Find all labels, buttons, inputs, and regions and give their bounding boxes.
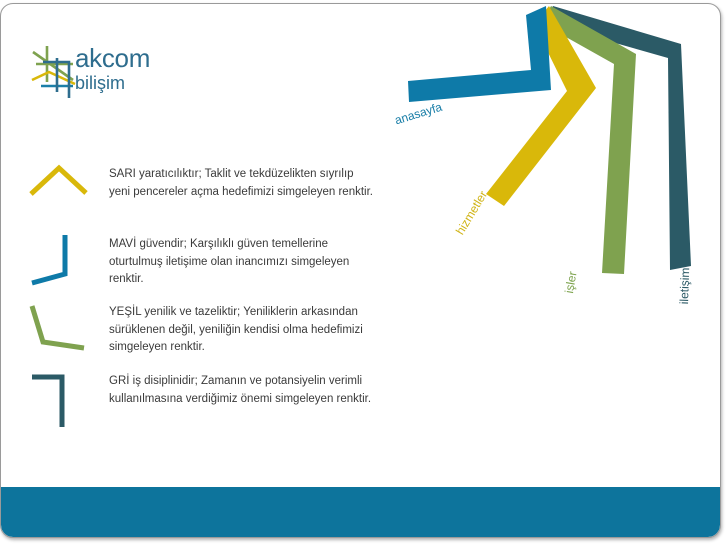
legend-text-yellow: SARI yaratıcılıktır; Taklit ve tekdüzeli… — [109, 166, 377, 201]
navigation-ribbons — [371, 4, 721, 334]
footer-bar — [1, 487, 720, 537]
brand-name-primary: akcom — [75, 44, 195, 72]
brand-logo[interactable]: akcom bilişim — [29, 42, 189, 104]
yellow-corner-mark-icon — [29, 162, 91, 224]
legend-text-green: YEŞİL yenilik ve tazeliktir; Yenilikleri… — [109, 304, 377, 357]
gray-corner-mark-icon — [29, 369, 91, 431]
akcom-grid-logo-icon — [29, 42, 81, 100]
nav-label-iletisim[interactable]: iletişim — [677, 267, 692, 304]
brand-wordmark: akcom bilişim — [75, 44, 195, 93]
page-card: akcom bilişim SARI yaratıcılıktır; Takli… — [0, 3, 721, 538]
ribbon-anasayfa[interactable] — [408, 6, 551, 102]
legend-text-gray: GRİ iş disiplinidir; Zamanın ve potansiy… — [109, 373, 377, 408]
brand-name-secondary: bilişim — [75, 73, 195, 93]
legend-text-blue: MAVİ güvendir; Karşılıklı güven temeller… — [109, 236, 377, 289]
green-corner-mark-icon — [29, 300, 91, 362]
blue-corner-mark-icon — [29, 232, 91, 294]
